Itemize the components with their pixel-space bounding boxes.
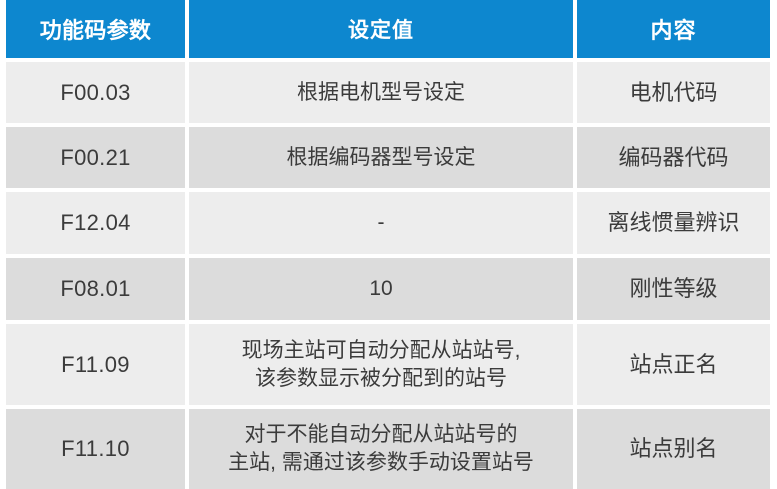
cell-text: 根据电机型号设定: [289, 79, 473, 107]
cell-text: F08.01: [52, 274, 138, 303]
cell-function-code: F11.10: [6, 409, 185, 489]
cell-text: 刚性等级: [621, 274, 725, 303]
column-header-set-value: 设定值: [189, 0, 573, 58]
cell-function-code: F08.01: [6, 258, 185, 320]
cell-text: F11.09: [53, 350, 138, 379]
cell-set-value: -: [189, 192, 573, 254]
cell-text: 站点正名: [621, 350, 725, 379]
cell-text: F00.21: [52, 143, 138, 172]
cell-text: 编码器代码: [610, 143, 736, 172]
cell-text: F12.04: [52, 208, 138, 237]
cell-function-code: F00.21: [6, 127, 185, 188]
cell-content: 刚性等级: [577, 258, 770, 320]
cell-text: F11.10: [53, 434, 138, 463]
cell-content: 离线惯量辨识: [577, 192, 770, 254]
cell-text: -: [370, 209, 393, 237]
cell-content: 编码器代码: [577, 127, 770, 188]
cell-set-value: 现场主站可自动分配从站站号, 该参数显示被分配到的站号: [189, 324, 573, 405]
cell-text: 站点别名: [621, 434, 725, 463]
cell-text: 电机代码: [621, 78, 725, 107]
table-row: F11.10 对于不能自动分配从站站号的 主站, 需通过该参数手动设置站号 站点…: [6, 409, 770, 489]
cell-text: 对于不能自动分配从站站号的 主站, 需通过该参数手动设置站号: [220, 421, 542, 476]
cell-set-value: 对于不能自动分配从站站号的 主站, 需通过该参数手动设置站号: [189, 409, 573, 489]
cell-text: 现场主站可自动分配从站站号, 该参数显示被分配到的站号: [234, 337, 529, 392]
cell-text: 根据编码器型号设定: [279, 144, 484, 172]
cell-content: 站点别名: [577, 409, 770, 489]
table-row: F08.01 10 刚性等级: [6, 258, 770, 320]
table-row: F12.04 - 离线惯量辨识: [6, 192, 770, 254]
column-header-label: 内容: [650, 13, 696, 45]
column-header-label: 功能码参数: [40, 13, 152, 45]
cell-text: 离线惯量辨识: [599, 208, 747, 237]
table-row: F00.03 根据电机型号设定 电机代码: [6, 62, 770, 123]
cell-set-value: 根据编码器型号设定: [189, 127, 573, 188]
column-header-label: 设定值: [348, 14, 414, 44]
cell-content: 电机代码: [577, 62, 770, 123]
cell-function-code: F00.03: [6, 62, 185, 123]
cell-function-code: F12.04: [6, 192, 185, 254]
column-header-content: 内容: [577, 0, 770, 58]
cell-set-value: 10: [189, 258, 573, 320]
table-row: F11.09 现场主站可自动分配从站站号, 该参数显示被分配到的站号 站点正名: [6, 324, 770, 405]
cell-text: 10: [361, 275, 400, 303]
cell-content: 站点正名: [577, 324, 770, 405]
cell-text: F00.03: [52, 78, 138, 107]
column-header-function-code: 功能码参数: [6, 0, 185, 58]
table-row: F00.21 根据编码器型号设定 编码器代码: [6, 127, 770, 188]
cell-function-code: F11.09: [6, 324, 185, 405]
cell-set-value: 根据电机型号设定: [189, 62, 573, 123]
parameter-table: 功能码参数 设定值 内容 F00.03 根据电机型号设定 电机代码 F00.21…: [0, 0, 777, 473]
table-header-row: 功能码参数 设定值 内容: [6, 0, 770, 58]
